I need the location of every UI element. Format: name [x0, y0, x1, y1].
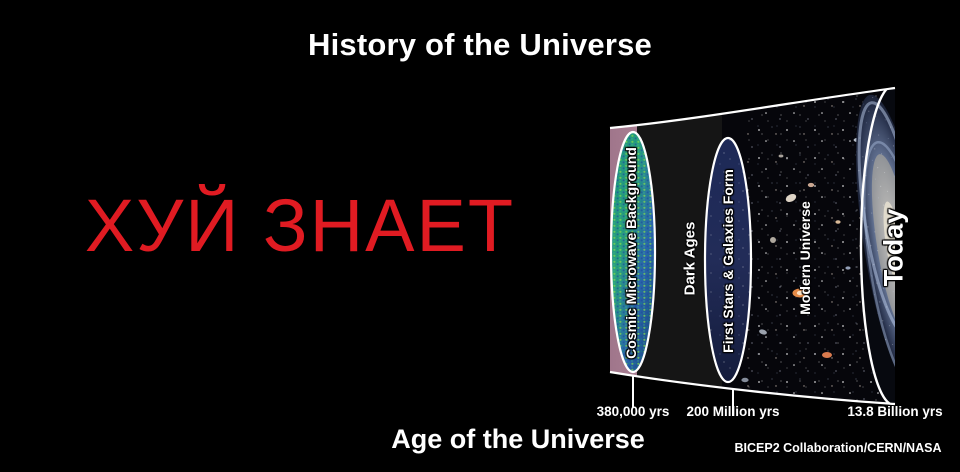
label-dark-ages: Dark Ages: [682, 189, 699, 329]
label-modern-universe: Modern Universe: [797, 173, 813, 343]
image-credit: BICEP2 Collaboration/CERN/NASA: [720, 441, 956, 455]
tick-label-13-8-billion-yrs: 13.8 Billion yrs: [830, 404, 960, 419]
tick-label-200-million-yrs: 200 Million yrs: [668, 404, 798, 419]
universe-timeline-diagram: Cosmic Microwave Background Dark Ages Fi…: [595, 80, 960, 420]
image-canvas: History of the Universe ХУЙ ЗНАЕТ: [0, 0, 960, 472]
label-cosmic-microwave-background: Cosmic Microwave Background: [623, 143, 639, 363]
page-title: History of the Universe: [0, 27, 960, 63]
meme-caption-text: ХУЙ ЗНАЕТ: [0, 186, 600, 266]
label-today: Today: [879, 193, 910, 303]
label-first-stars-galaxies-form: First Stars & Galaxies Form: [720, 151, 736, 371]
axis-caption: Age of the Universe: [268, 424, 768, 455]
